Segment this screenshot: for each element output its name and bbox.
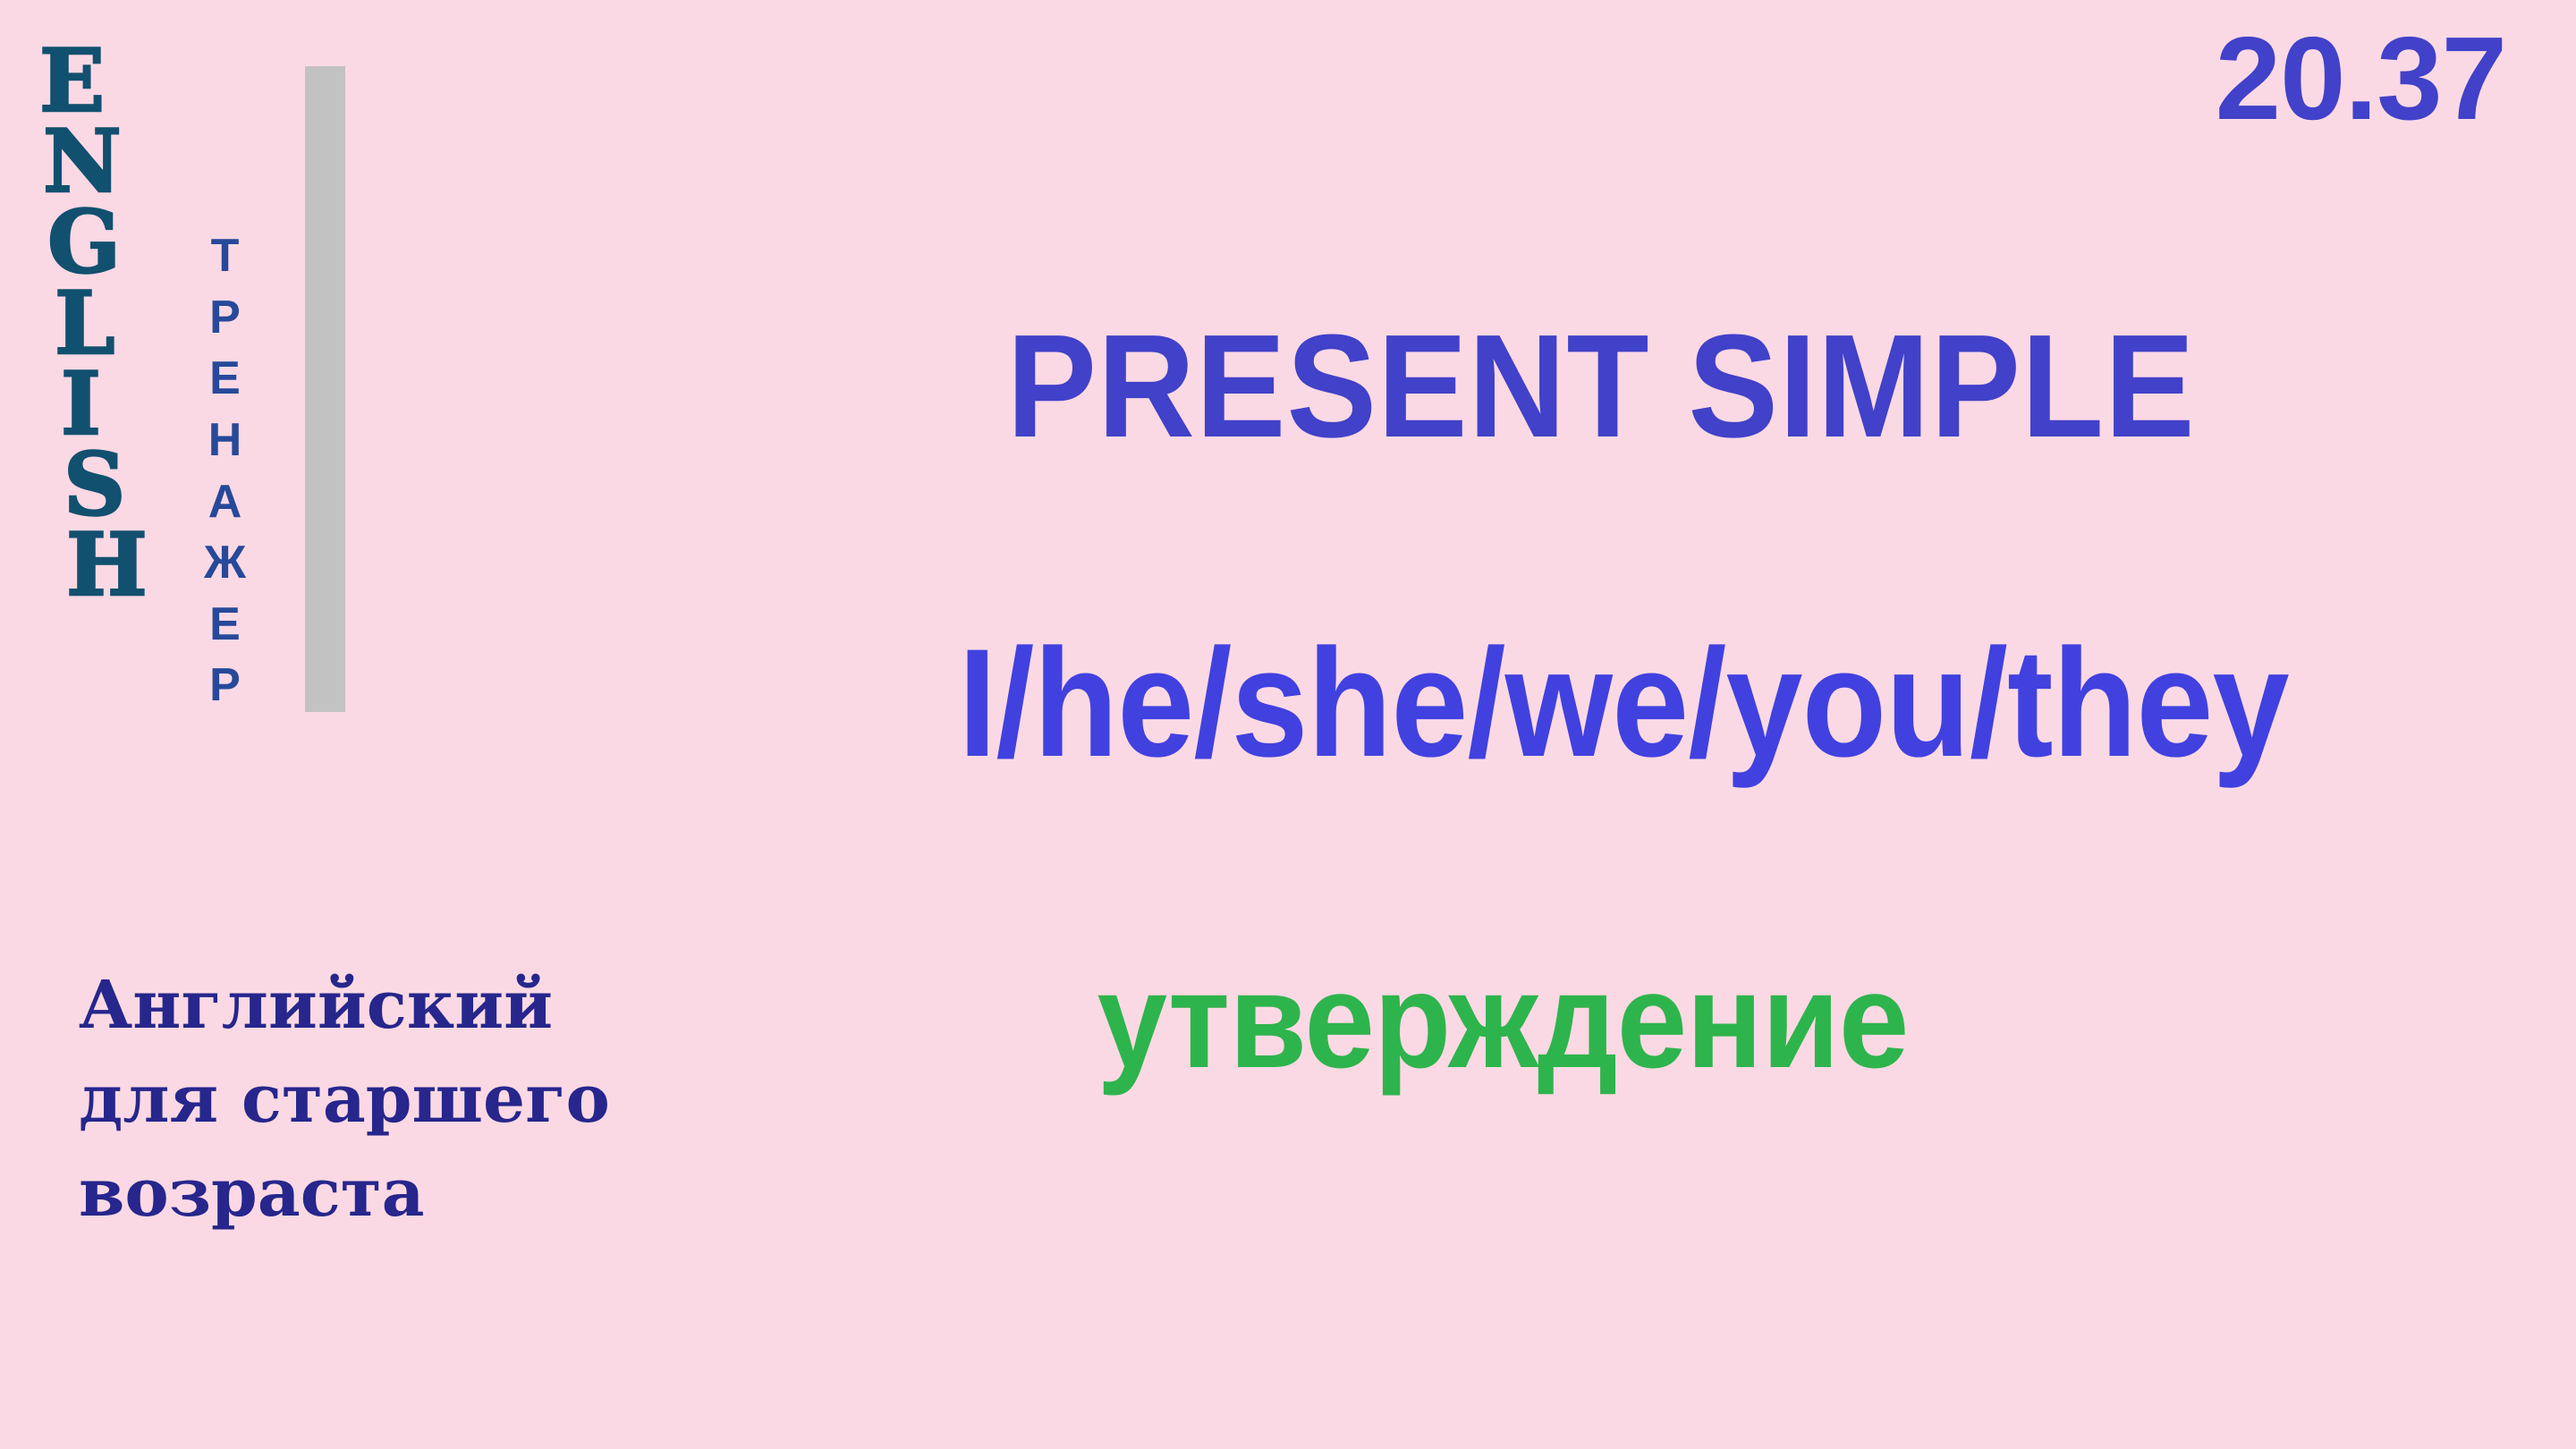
- trenazher-letter-n: Н: [208, 410, 242, 471]
- trenazher-letter-e1: Е: [209, 348, 241, 410]
- english-vertical-wordmark: E N G L I S H: [39, 41, 182, 606]
- vertical-divider-bar: [305, 66, 345, 712]
- trenazher-letter-r: Р: [209, 287, 241, 349]
- english-letter-s: S: [64, 445, 125, 525]
- trenazher-letter-zh: Ж: [204, 532, 246, 594]
- trenazher-letter-a: А: [208, 471, 242, 533]
- pronoun-list: I/he/she/we/you/they: [823, 626, 2425, 780]
- tense-title: PRESENT SIMPLE: [803, 313, 2400, 460]
- trenazher-letter-r2: Р: [209, 655, 241, 716]
- english-letter-e: E: [39, 41, 105, 122]
- slide-canvas: E N G L I S H Т Р Е Н А Ж Е Р Английский…: [0, 0, 2576, 1449]
- trenazher-vertical-wordmark: Т Р Е Н А Ж Е Р: [204, 225, 246, 716]
- tagline-line-2: для старшего: [79, 1053, 812, 1147]
- tagline-line-1: Английский: [79, 959, 812, 1053]
- trenazher-letter-e2: Е: [209, 594, 241, 656]
- tagline-line-3: возраста: [79, 1147, 812, 1241]
- english-letter-l: L: [55, 284, 115, 364]
- brand-block: E N G L I S H Т Р Е Н А Ж Е Р: [0, 0, 394, 769]
- english-letter-g: G: [47, 202, 121, 283]
- main-content: PRESENT SIMPLE I/he/she/we/you/they утве…: [733, 0, 2576, 1449]
- english-letter-i: I: [61, 364, 101, 445]
- sentence-form-label: утверждение: [787, 953, 2218, 1089]
- english-letter-h: H: [66, 525, 148, 606]
- tagline: Английский для старшего возраста: [79, 959, 812, 1241]
- trenazher-letter-t: Т: [211, 225, 240, 287]
- english-letter-n: N: [43, 122, 122, 202]
